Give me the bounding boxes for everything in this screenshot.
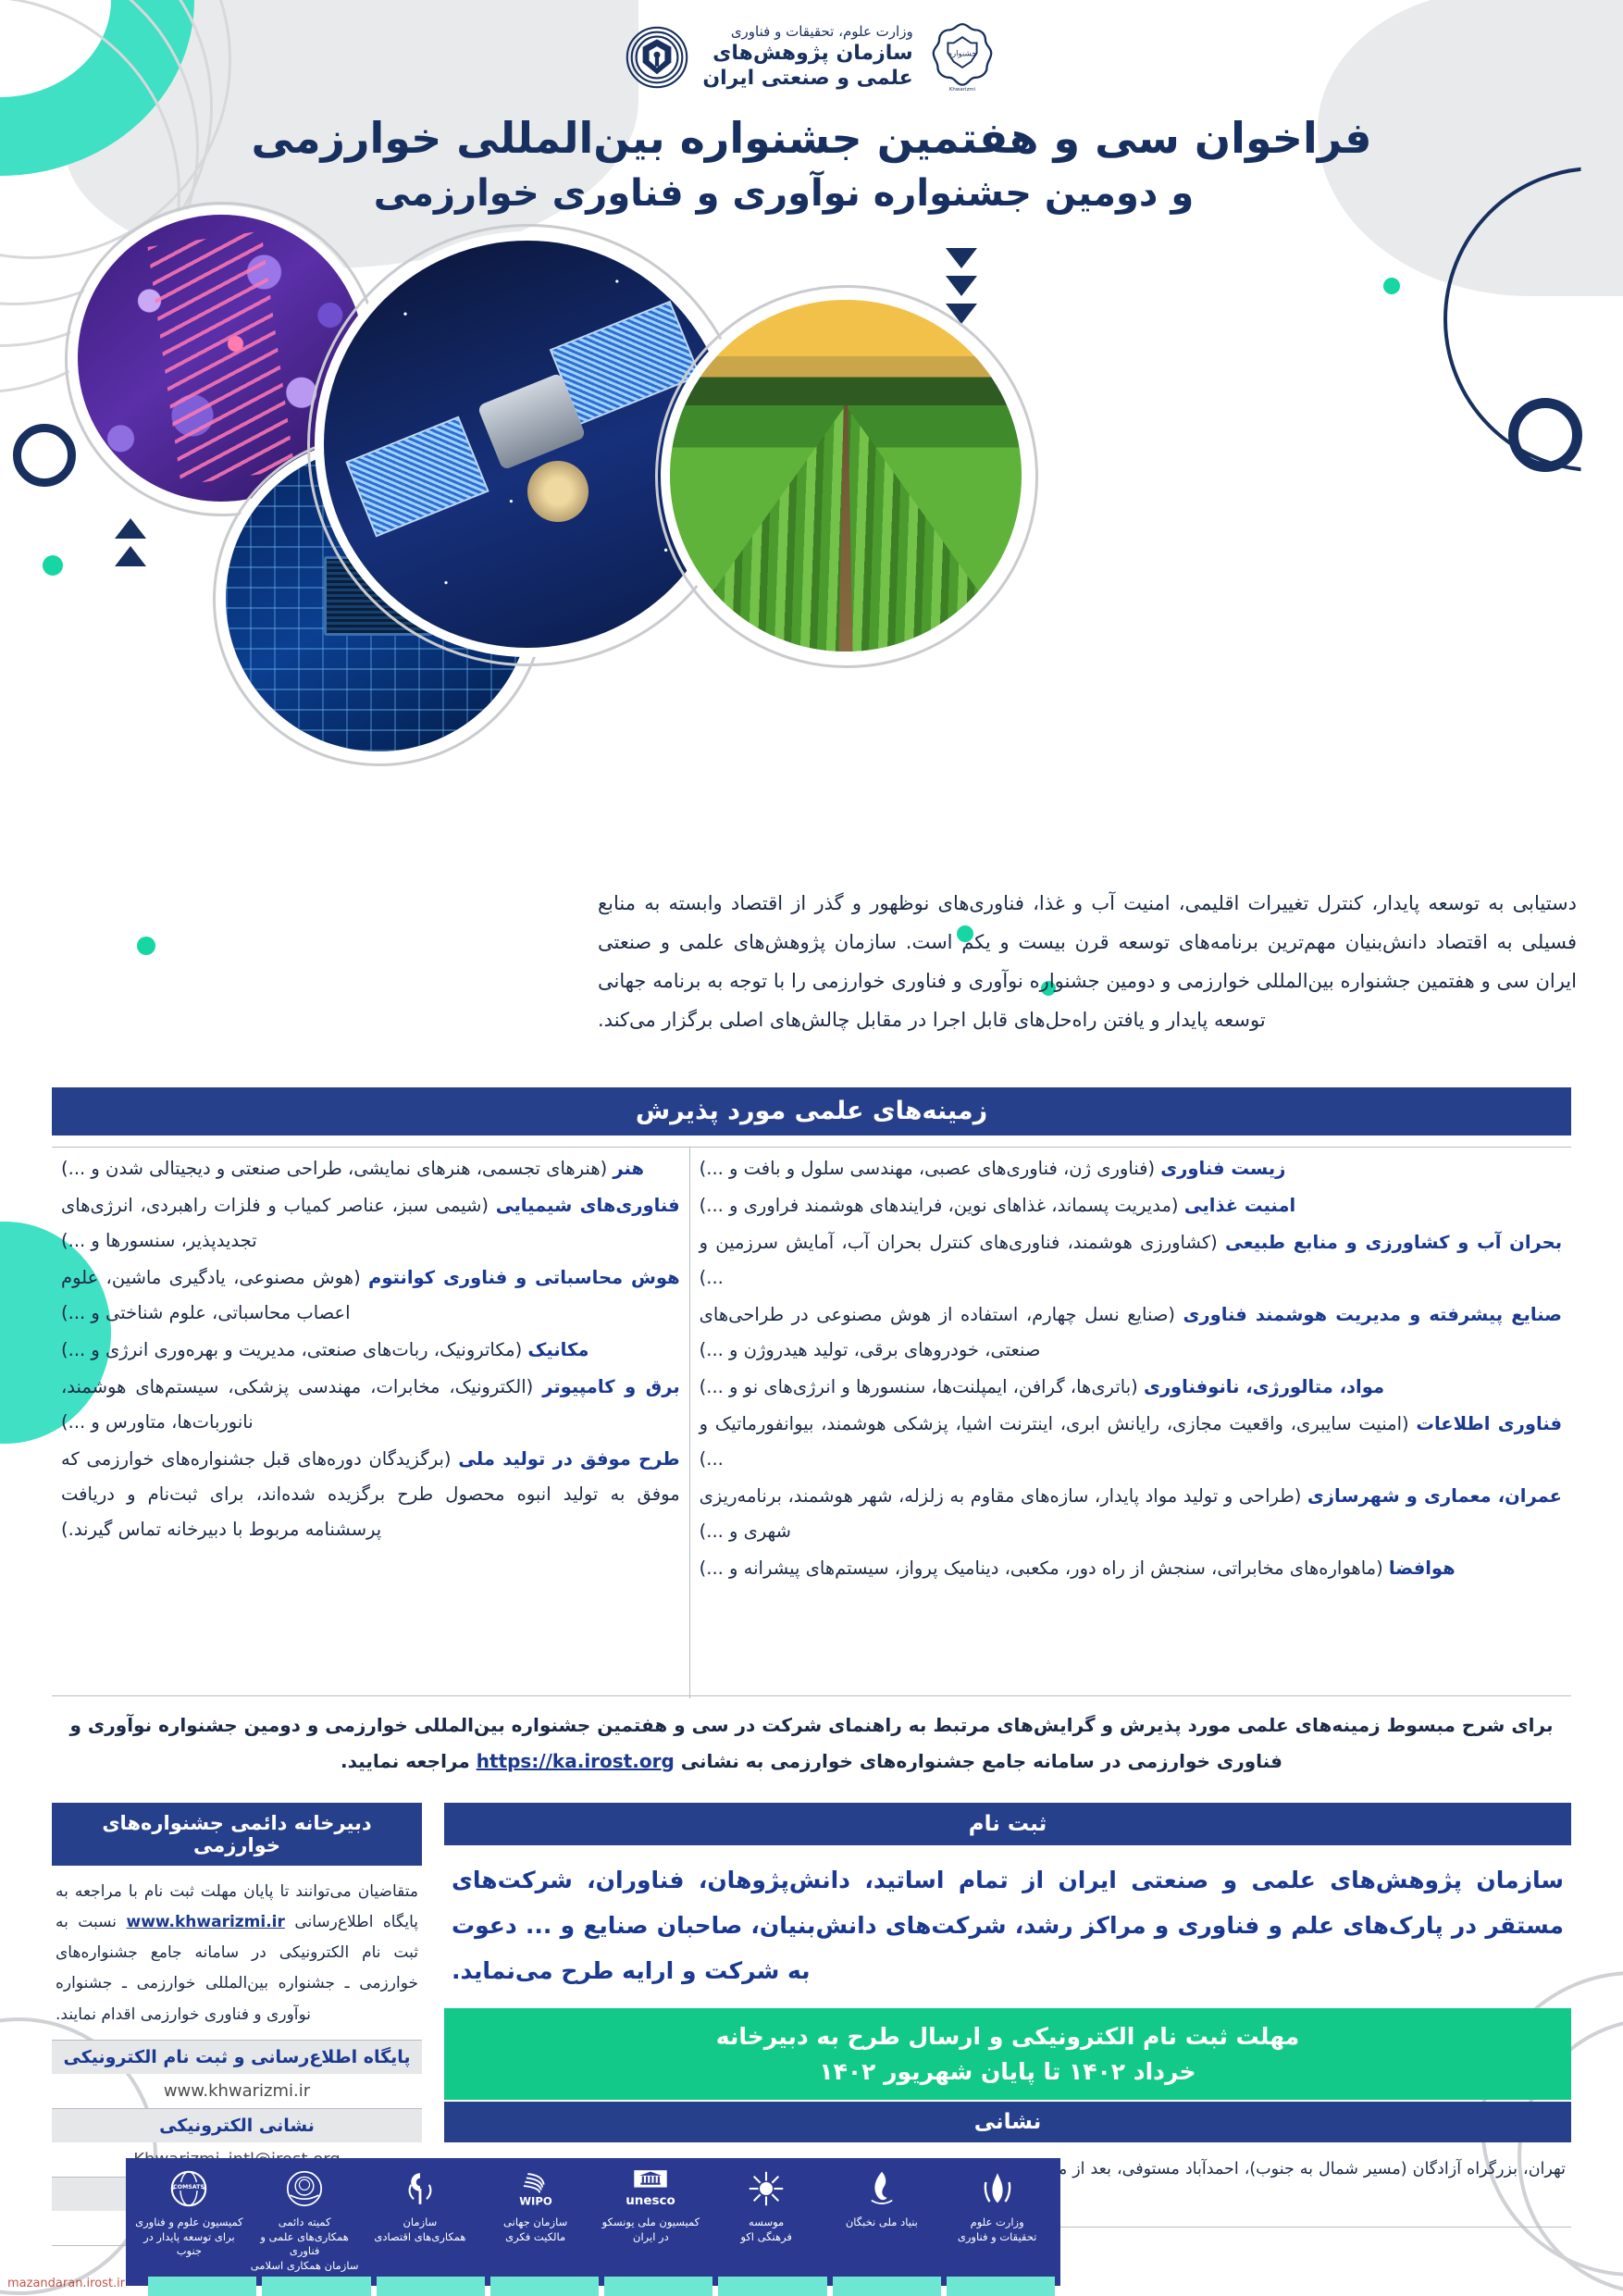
field-item: بحران آب و کشاورزی و منابع طبیعی (کشاورز… [700, 1225, 1562, 1296]
fields-column-right: زیست فناوری (فناوری ژن، فناوری‌های عصبی،… [690, 1148, 1571, 1698]
field-name: طرح موفق در تولید ملی [458, 1448, 679, 1470]
field-name: مکانیک [527, 1339, 588, 1360]
field-detail: (الکترونیک، مخابرات، مهندسی پزشکی، سیستم… [61, 1376, 533, 1433]
deadline-line-2: خرداد ۱۴۰۲ تا پایان شهریور ۱۴۰۲ [450, 2054, 1566, 2090]
unesco-icon: unesco [614, 2167, 687, 2210]
partner-unesco: unesco کمیسیون ملی یونسکودر ایران [593, 2167, 709, 2244]
fields-column-left: هنر (هنرهای تجسمی، هنرهای نمایشی، طراحی … [52, 1148, 690, 1698]
field-detail: (طراحی و تولید مواد پایدار، سازه‌های مقا… [700, 1485, 1302, 1542]
field-detail: (مکاترونیک، ربات‌های صنعتی، مدیریت و بهر… [61, 1339, 522, 1360]
section-heading-accepted-fields: زمینه‌های علمی مورد پذیرش [52, 1087, 1571, 1136]
footer-teal-cell [833, 2277, 941, 2296]
partner-comstech-caption: کمیته دائمیهمکاری‌های علمی و فناوریسازما… [247, 2215, 363, 2273]
field-name: امنیت غذایی [1184, 1195, 1295, 1216]
address-heading: نشانی [444, 2102, 1571, 2142]
decor-teal-dot-5 [1383, 278, 1400, 294]
ministry-titles: وزارت علوم، تحقیقات و فناوری سازمان پژوه… [702, 23, 912, 92]
field-detail: (امنیت سایبری، واقعیت مجازی، رایانش ابری… [700, 1413, 1409, 1470]
photo-collage [59, 205, 1077, 779]
partner-wipo: WIPO سازمان جهانیمالکیت فکری [477, 2167, 593, 2244]
partner-comsats: COMSATS کمیسیون علوم و فناوریبرای توسعه … [131, 2167, 247, 2259]
decor-teal-dot-2 [137, 937, 155, 955]
poster-header: جشنواره Khwarizmi وزارت علوم، تحقیقات و … [0, 15, 1623, 100]
irost-logo [625, 25, 689, 90]
accepted-fields-table: زیست فناوری (فناوری ژن، فناوری‌های عصبی،… [52, 1148, 1571, 1698]
field-detail: (مدیریت پسماند، غذاهای نوین، فرایندهای ه… [700, 1195, 1179, 1216]
contact-label-email: نشانی الکترونیکی [52, 2108, 422, 2142]
field-detail: (هوش مصنوعی، یادگیری ماشین، علوم اعصاب م… [61, 1267, 361, 1323]
solar-panel-left [346, 416, 489, 538]
footer-teal-cell [718, 2277, 826, 2296]
field-name: فناوری‌های شیمیایی [496, 1195, 680, 1216]
ministry-line-3: علمی و صنعتی ایران [702, 66, 912, 92]
guide-note: برای شرح مبسوط زمینه‌های علمی مورد پذیرش… [52, 1707, 1571, 1780]
deadline-banner: مهلت ثبت نام الکترونیکی و ارسال طرح به د… [444, 2008, 1571, 2100]
svg-text:جشنواره: جشنواره [948, 49, 976, 58]
field-item: امنیت غذایی (مدیریت پسماند، غذاهای نوین،… [700, 1188, 1562, 1223]
partner-unesco-caption: کمیسیون ملی یونسکودر ایران [602, 2215, 700, 2244]
contact-label-portal: پایگاه اطلاع‌رسانی و ثبت نام الکترونیکی [52, 2040, 422, 2074]
guide-note-text-before: برای شرح مبسوط زمینه‌های علمی مورد پذیرش… [70, 1714, 1554, 1772]
deadline-line-1: مهلت ثبت نام الکترونیکی و ارسال طرح به د… [450, 2019, 1566, 2054]
partner-national-elites: بنیاد ملی نخبگان [824, 2167, 940, 2230]
field-item: هوافضا (ماهواره‌های مخابراتی، سنجش از را… [700, 1551, 1562, 1586]
festival-portal-link[interactable]: https://ka.irost.org [477, 1750, 675, 1772]
poster-root: جشنواره Khwarizmi وزارت علوم، تحقیقات و … [0, 0, 1623, 2296]
partner-eco-cultural: موسسهفرهنگی اکو [709, 2167, 824, 2244]
field-detail: (فناوری ژن، فناوری‌های عصبی، مهندسی سلول… [700, 1158, 1155, 1179]
satellite-dish [527, 461, 588, 522]
field-name: هوافضا [1389, 1558, 1456, 1579]
partner-eco: سازمانهمکاری‌های اقتصادی [363, 2167, 478, 2244]
field-item: عمران، معماری و شهرسازی (طراحی و تولید م… [700, 1479, 1562, 1549]
ministry-line-1: وزارت علوم، تحقیقات و فناوری [702, 23, 912, 41]
field-name: هوش محاسباتی و فناوری کوانتوم [368, 1267, 680, 1288]
source-watermark: mazandaran.irost.ir [7, 2277, 125, 2290]
footer-teal-cell [262, 2277, 370, 2296]
page-title-line-2: و دومین جشنواره نوآوری و فناوری خوارزمی [0, 167, 1623, 220]
field-detail: (شیمی سبز، عناصر کمیاب و فلزات راهبردی، … [61, 1195, 489, 1251]
footer-teal-cell [490, 2277, 599, 2296]
field-detail: (صنایع نسل چهارم، استفاده از هوش مصنوعی … [700, 1304, 1175, 1360]
registration-body: سازمان پژوهش‌های علمی و صنعتی ایران از ت… [444, 1845, 1571, 2008]
eco-cultural-institute-icon [747, 2167, 786, 2210]
contact-value-portal[interactable]: www.khwarizmi.ir [52, 2074, 422, 2108]
secretariat-heading: دبیرخانه دائمی جشنواره‌های خوارزمی [52, 1803, 422, 1866]
field-name: عمران، معماری و شهرسازی [1307, 1485, 1562, 1507]
national-elites-foundation-icon [862, 2167, 901, 2210]
partner-comsats-caption: کمیسیون علوم و فناوریبرای توسعه پایدار د… [131, 2215, 247, 2259]
partner-comstech: کمیته دائمیهمکاری‌های علمی و فناوریسازما… [247, 2167, 363, 2273]
wipo-icon: WIPO [509, 2167, 563, 2210]
decor-navy-ring-right [1508, 398, 1582, 472]
field-detail: (باتری‌ها، گرافن، ایمپلنت‌ها، سنسورها و … [700, 1376, 1138, 1397]
svg-text:Khwarizmi: Khwarizmi [949, 87, 975, 93]
field-name: فناوری اطلاعات [1416, 1413, 1562, 1434]
guide-note-text-after: مراجعه نمایید. [341, 1750, 477, 1772]
khwarizmi-seal-logo: جشنواره Khwarizmi [926, 21, 998, 93]
field-item: هنر (هنرهای تجسمی، هنرهای نمایشی، طراحی … [61, 1151, 680, 1186]
khwarizmi-site-link[interactable]: www.khwarizmi.ir [127, 1913, 285, 1931]
field-item: مکانیک (مکاترونیک، ربات‌های صنعتی، مدیری… [61, 1333, 680, 1368]
comsats-icon: COMSATS [169, 2167, 208, 2210]
partner-wipo-caption: سازمان جهانیمالکیت فکری [503, 2215, 567, 2244]
partner-logo-bar: COMSATS کمیسیون علوم و فناوریبرای توسعه … [126, 2158, 1060, 2286]
partner-national-elites-caption: بنیاد ملی نخبگان [846, 2215, 918, 2230]
field-name: بحران آب و کشاورزی و منابع طبیعی [1225, 1232, 1562, 1253]
farm-photo-art [670, 300, 1022, 652]
secretariat-body: متقاضیان می‌توانند تا پایان مهلت ثبت نام… [52, 1866, 422, 2040]
intro-paragraph: دستیابی به توسعه پایدار، کنترل تغییرات ا… [598, 884, 1577, 1039]
decor-white-left [0, 1212, 56, 1453]
title-block: فراخوان سی و هفتمین جشنواره بین‌المللی خ… [0, 109, 1623, 220]
ministry-line-2: سازمان پژوهش‌های [702, 41, 912, 67]
field-detail: (هنرهای تجسمی، هنرهای نمایشی، طراحی صنعت… [61, 1158, 607, 1179]
field-name: برق و کامپیوتر [542, 1376, 679, 1397]
field-name: هنر [613, 1158, 644, 1179]
svg-text:unesco: unesco [626, 2193, 676, 2208]
field-detail: (ماهواره‌های مخابراتی، سنجش از راه دور، … [700, 1558, 1383, 1579]
field-item: فناوری‌های شیمیایی (شیمی سبز، عناصر کمیا… [61, 1188, 680, 1259]
partner-eco-caption: سازمانهمکاری‌های اقتصادی [374, 2215, 465, 2244]
ministry-science-icon [978, 2167, 1017, 2210]
partner-eco-cultural-caption: موسسهفرهنگی اکو [740, 2215, 792, 2244]
svg-text:COMSATS: COMSATS [173, 2184, 204, 2191]
comstech-icon [285, 2167, 324, 2210]
field-item: طرح موفق در تولید ملی (برگزیدگان دوره‌ها… [61, 1442, 680, 1547]
fields-divider-top [52, 1147, 1571, 1148]
eco-icon [401, 2167, 440, 2210]
footer-teal-cell [148, 2277, 256, 2296]
footer-teal-cell [947, 2277, 1055, 2296]
footer-teal-cell [377, 2277, 485, 2296]
svg-text:WIPO: WIPO [519, 2194, 552, 2207]
fields-divider-bottom [52, 1695, 1571, 1696]
partner-ministry-caption: وزارت علومتحقیقات و فناوری [958, 2215, 1037, 2244]
footer-teal-cell [604, 2277, 712, 2296]
page-title-line-1: فراخوان سی و هفتمین جشنواره بین‌المللی خ… [0, 109, 1623, 167]
footer-teal-strip [148, 2277, 1055, 2296]
field-item: فناوری اطلاعات (امنیت سایبری، واقعیت مجا… [700, 1407, 1562, 1477]
agriculture-field-photo [670, 300, 1022, 652]
field-detail: (کشاورزی هوشمند، فناوری‌های کنترل بحران … [700, 1232, 1218, 1288]
registration-heading: ثبت نام [444, 1803, 1571, 1845]
field-name: زیست فناوری [1160, 1158, 1285, 1179]
field-item: زیست فناوری (فناوری ژن، فناوری‌های عصبی،… [700, 1151, 1562, 1186]
field-name: صنایع پیشرفته و مدیریت هوشمند فناوری [1183, 1304, 1562, 1325]
field-item: صنایع پیشرفته و مدیریت هوشمند فناوری (صن… [700, 1297, 1562, 1368]
partner-ministry: وزارت علومتحقیقات و فناوری [939, 2167, 1055, 2244]
field-name: مواد، متالورژی، نانوفناوری [1144, 1376, 1384, 1397]
field-item: هوش محاسباتی و فناوری کوانتوم (هوش مصنوع… [61, 1260, 680, 1331]
field-item: برق و کامپیوتر (الکترونیک، مخابرات، مهند… [61, 1370, 680, 1440]
field-item: مواد، متالورژی، نانوفناوری (باتری‌ها، گر… [700, 1370, 1562, 1405]
